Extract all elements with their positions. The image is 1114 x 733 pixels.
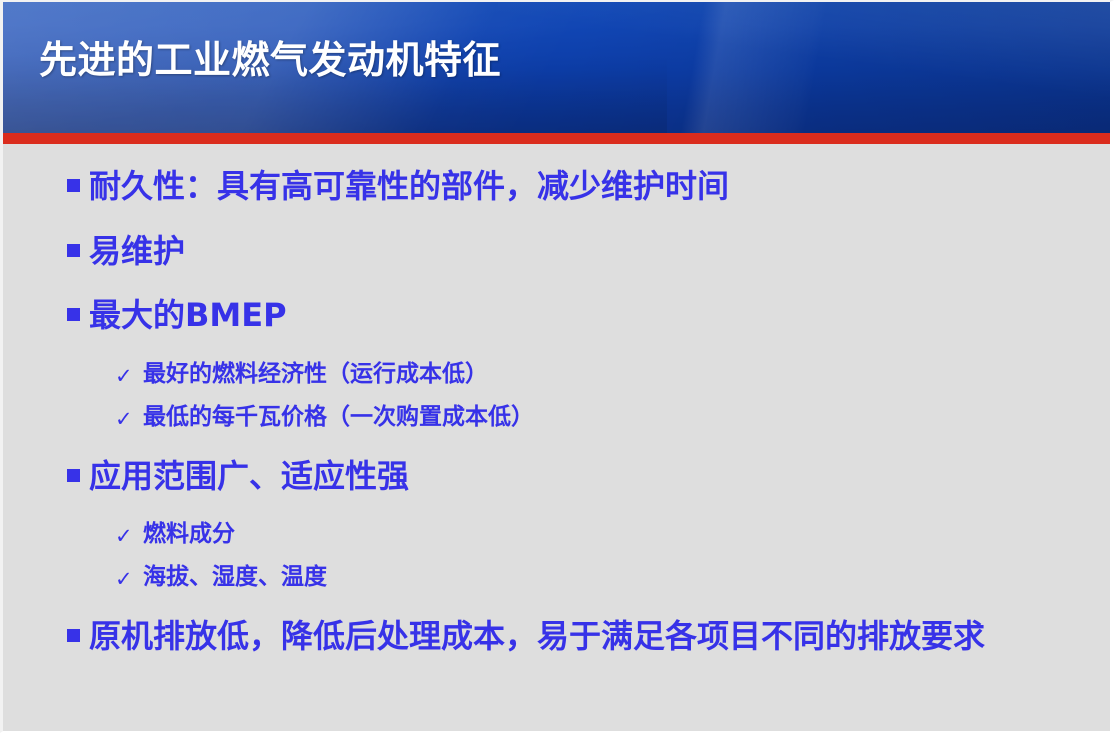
slide-body-content: 耐久性：具有高可靠性的部件，减少维护时间 易维护 最大的BMEP ✓ 最好的燃料… — [3, 144, 1110, 731]
slide-title: 先进的工业燃气发动机特征 — [39, 41, 501, 79]
square-bullet-icon — [67, 308, 80, 321]
square-bullet-icon — [67, 629, 80, 642]
bullet-text: 最大的BMEP — [89, 295, 287, 337]
sub-bullet-item-price-per-kw: ✓ 最低的每千瓦价格（一次购置成本低） — [115, 403, 1082, 433]
square-bullet-icon — [67, 179, 80, 192]
presentation-slide: 先进的工业燃气发动机特征 耐久性：具有高可靠性的部件，减少维护时间 易维护 最大… — [0, 0, 1114, 733]
sub-bullet-item-fuel-economy: ✓ 最好的燃料经济性（运行成本低） — [115, 360, 1082, 390]
title-underline-rule — [3, 133, 1110, 144]
bullet-item-low-emissions: 原机排放低，降低后处理成本，易于满足各项目不同的排放要求 — [67, 616, 1082, 658]
sub-bullet-text: 最低的每千瓦价格（一次购置成本低） — [143, 403, 534, 433]
bullet-item-bmep: 最大的BMEP — [67, 295, 1082, 337]
bullet-text: 应用范围广、适应性强 — [89, 456, 409, 498]
sub-bullet-item-altitude-humidity-temperature: ✓ 海拔、湿度、温度 — [115, 563, 1082, 593]
check-bullet-icon: ✓ — [115, 523, 135, 549]
square-bullet-icon — [67, 469, 80, 482]
sub-bullet-text: 燃料成分 — [143, 520, 235, 550]
check-bullet-icon: ✓ — [115, 363, 135, 389]
section-spacer — [67, 446, 1082, 456]
check-bullet-icon: ✓ — [115, 566, 135, 592]
check-bullet-icon: ✓ — [115, 406, 135, 432]
section-spacer — [67, 606, 1082, 616]
bullet-item-application-range: 应用范围广、适应性强 — [67, 456, 1082, 498]
sub-bullet-text: 最好的燃料经济性（运行成本低） — [143, 360, 488, 390]
sub-bullet-text: 海拔、湿度、温度 — [143, 563, 327, 593]
bullet-text: 耐久性：具有高可靠性的部件，减少维护时间 — [89, 166, 729, 208]
header-gradient-sheen-secondary — [497, 2, 1110, 106]
sub-bullet-item-fuel-composition: ✓ 燃料成分 — [115, 520, 1082, 550]
bullet-item-durability: 耐久性：具有高可靠性的部件，减少维护时间 — [67, 166, 1082, 208]
slide-header-banner: 先进的工业燃气发动机特征 — [3, 2, 1110, 133]
bullet-text: 易维护 — [89, 231, 185, 273]
bullet-item-maintainability: 易维护 — [67, 231, 1082, 273]
square-bullet-icon — [67, 244, 80, 257]
bullet-text: 原机排放低，降低后处理成本，易于满足各项目不同的排放要求 — [89, 616, 985, 658]
